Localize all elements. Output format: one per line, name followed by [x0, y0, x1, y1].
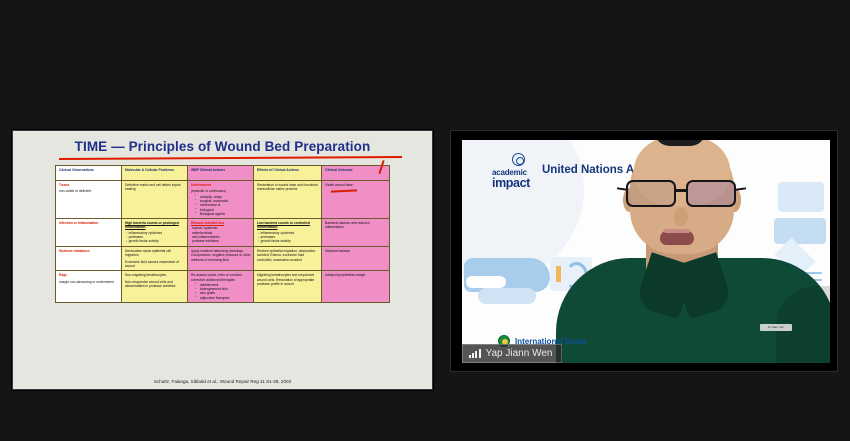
cell-molecular-edge: Non-migrating keratinocytes Non-responsi… — [122, 271, 188, 303]
cell-outcome-tissue: Viable wound base — [322, 181, 390, 219]
signal-bars-icon — [469, 349, 481, 358]
title-underline-rule — [59, 156, 402, 160]
cell-observation-moisture: Moisture imbalance — [56, 246, 122, 270]
action-bullet-list: topical / systemic: antimicrobials anti-… — [192, 226, 251, 243]
nose — [674, 208, 688, 226]
cell-effects-edge: Migrating keratinocytes and responsive w… — [254, 271, 322, 303]
cell-action-tissue: Debridement (episodic or continuous) aut… — [188, 181, 254, 219]
cell-action-infection: Remove infected foci topical / systemic:… — [188, 219, 254, 247]
slide-content: TIME — Principles of Wound Bed Preparati… — [13, 131, 432, 389]
cell-effects-moisture: Restore epithelial migration, desiccatio… — [254, 246, 322, 270]
cell-molecular-moisture: Desiccation slows epithelial cell migrat… — [122, 246, 188, 270]
cell-observation-edge: Edge margin non-advancing or undermined — [56, 271, 122, 303]
cell-molecular-infection: High bacteria counts or prolonged inflam… — [122, 219, 188, 247]
lens-right — [686, 180, 736, 207]
action-bullet-list: debridement bioengineered skin skin graf… — [196, 283, 251, 300]
cell-outcome-infection: Bacterial balance and reduced inflammati… — [322, 219, 390, 247]
cell-outcome-edge: Advancing epithelial margin — [322, 271, 390, 303]
action-bullet-list: autolytic, sharp surgical, enzymatic, me… — [196, 195, 251, 216]
cell-effects-infection: Low bacteria counts or controlled inflam… — [254, 219, 322, 247]
col-header-molecular-cellular-problems: Molecular & Cellular Problems — [122, 166, 188, 181]
cell-observation-infection: Infection or inflammation — [56, 219, 122, 247]
table-row: Infection or inflammation High bacteria … — [56, 219, 390, 247]
video-frame: academic impact United Nations Acad — [462, 140, 830, 363]
time-principles-table: Clinical Observations Molecular & Cellul… — [55, 165, 390, 303]
glasses-bridge — [676, 189, 688, 192]
background-blob-light — [478, 288, 536, 304]
upper-lip — [664, 229, 690, 233]
slide-title: TIME — Principles of Wound Bed Preparati… — [21, 139, 424, 154]
table-row: Tissue non-viable or deficient Defective… — [56, 181, 390, 219]
table-row: Edge margin non-advancing or undermined … — [56, 271, 390, 303]
participant-name-badge[interactable]: Yap Jiann Wen — [462, 344, 562, 363]
col-header-clinical-observations: Clinical Observations — [56, 166, 122, 181]
speaker-figure: Dr Alan Yap — [580, 140, 830, 363]
col-header-wbp-clinical-actions: WBP Clinical Actions — [188, 166, 254, 181]
scrub-name-badge: Dr Alan Yap — [760, 324, 792, 331]
cell-outcome-moisture: Moisture balance — [322, 246, 390, 270]
cell-action-moisture: Apply moisture balancing dressings; Comp… — [188, 246, 254, 270]
molecular-bullet-list: ↑ inflammatory cytokines ↑ proteases ↓ g… — [126, 231, 185, 244]
cell-effects-tissue: Restoration of wound base and functional… — [254, 181, 322, 219]
slide-citation: Schultz, Falanga, Sibbald et al., Wound … — [13, 379, 432, 384]
un-emblem-icon — [512, 153, 525, 166]
table-header-row: Clinical Observations Molecular & Cellul… — [56, 166, 390, 181]
cell-action-edge: Re-assess cause, refer or consider corre… — [188, 271, 254, 303]
col-header-effects-of-clinical-actions: Effects of Clinical Actions — [254, 166, 322, 181]
glasses-temple-left — [617, 187, 627, 191]
glasses-temple-right — [736, 187, 746, 191]
cell-molecular-tissue: Defective matrix and cell debris impair … — [122, 181, 188, 219]
shared-slide-panel[interactable]: TIME — Principles of Wound Bed Preparati… — [12, 130, 433, 390]
handwritten-underline — [331, 189, 357, 192]
cell-observation-tissue: Tissue non-viable or deficient — [56, 181, 122, 219]
lens-left — [626, 180, 676, 207]
speaker-video-tile[interactable]: academic impact United Nations Acad — [450, 130, 838, 372]
effects-bullet-list: ↓ inflammatory cytokines ↓ proteases ↑ g… — [258, 231, 319, 244]
table-row: Moisture imbalance Desiccation slows epi… — [56, 246, 390, 270]
participant-name: Yap Jiann Wen — [486, 348, 553, 359]
background-blob-white — [466, 276, 506, 288]
eyeglasses-icon — [622, 180, 744, 208]
screen-share-view: TIME — Principles of Wound Bed Preparati… — [0, 0, 850, 441]
